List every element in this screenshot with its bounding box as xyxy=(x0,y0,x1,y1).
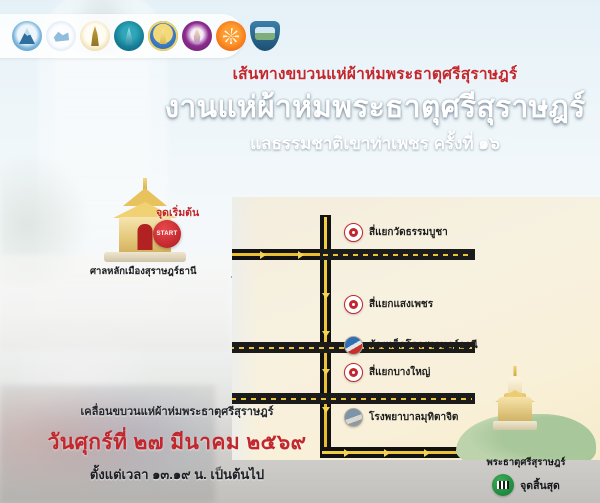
start-point-label: จุดเริ่มต้น xyxy=(156,204,199,221)
waypoint-row: ห้างแม็คโครสุราษฎร์ธานี xyxy=(344,336,478,355)
route-arrow-right xyxy=(298,251,304,259)
destination-end-row: จุดสิ้นสุด xyxy=(452,474,600,496)
hospital-icon xyxy=(344,408,363,427)
logo-tourism xyxy=(148,21,178,51)
header-tagline: แลธรรมชาติเขาท่าเพชร ครั้งที่ ๑๖ xyxy=(150,130,600,157)
poster-canvas: เส้นทางขบวนแห่ผ้าห่มพระธาตุศรีสุราษฎร์ ง… xyxy=(0,0,600,503)
footer-block: เคลื่อนขบวนแห่ผ้าห่มพระธาตุศรีสุราษฎร์ ว… xyxy=(24,402,330,485)
destination-end-label: จุดสิ้นสุด xyxy=(520,477,560,494)
waypoint-label: โรงพยาบาลมุทิตาจิต xyxy=(369,410,458,425)
finish-flag-icon xyxy=(492,474,514,496)
waypoint-row: สี่แยกวัดธรรมบูชา xyxy=(344,223,448,242)
waypoint-label: สี่แยกวัดธรรมบูชา xyxy=(369,225,448,240)
waypoint-row: สี่แยกแสงเพชร xyxy=(344,295,433,314)
destination-place-name: พระธาตุศรีสุราษฎร์ xyxy=(452,455,600,470)
waypoint-label: สี่แยกบางใหญ่ xyxy=(369,365,430,380)
cross-street-top xyxy=(320,249,475,260)
header-subtitle: เส้นทางขบวนแห่ผ้าห่มพระธาตุศรีสุราษฎร์ xyxy=(150,66,600,85)
route-arrow-down xyxy=(322,293,330,299)
waypoint-row: โรงพยาบาลมุทิตาจิต xyxy=(344,408,458,427)
waypoint-label: ห้างแม็คโครสุราษฎร์ธานี xyxy=(369,338,478,353)
logo-municipality xyxy=(114,21,144,51)
route-arrow-right xyxy=(344,449,350,457)
route-arrow-right xyxy=(260,251,266,259)
start-badge: START xyxy=(153,220,181,248)
map-pin-icon xyxy=(344,295,363,314)
store-icon xyxy=(344,336,363,355)
footer-line-1: เคลื่อนขบวนแห่ผ้าห่มพระธาตุศรีสุราษฎร์ xyxy=(24,402,330,420)
footer-event-time: ตั้งแต่เวลา ๑๓.๑๙ น. เป็นต้นไป xyxy=(24,464,330,485)
logo-sunburst xyxy=(216,21,246,51)
logo-royal-emblem xyxy=(80,21,110,51)
logo-strip xyxy=(0,14,244,58)
route-arrow-down xyxy=(322,369,330,375)
footer-event-date: วันศุกร์ที่ ๒๗ มีนาคม ๒๕๖๙ xyxy=(24,426,330,459)
waypoint-row: สี่แยกบางใหญ่ xyxy=(344,363,430,382)
logo-provincial-2 xyxy=(46,21,76,51)
phra-that-sri-surat-icon xyxy=(492,366,538,438)
logo-provincial-1 xyxy=(12,21,42,51)
route-arrow-right xyxy=(384,449,390,457)
start-place-name: ศาลหลักเมืองสุราษฎร์ธานี xyxy=(90,264,250,279)
route-arrow-right xyxy=(424,449,430,457)
waypoint-label: สี่แยกแสงเพชร xyxy=(369,297,433,312)
logo-cultural-council xyxy=(182,21,212,51)
route-segment-top-horizontal xyxy=(232,249,322,260)
page-title: งานแห่ผ้าห่มพระธาตุศรีสุราษฎร์ xyxy=(150,91,600,126)
route-arrow-down xyxy=(322,331,330,337)
destination-place-name-wrap: พระธาตุศรีสุราษฎร์ จุดสิ้นสุด xyxy=(452,455,600,496)
map-pin-icon xyxy=(344,223,363,242)
header-block: เส้นทางขบวนแห่ผ้าห่มพระธาตุศรีสุราษฎร์ ง… xyxy=(150,66,600,157)
map-pin-icon xyxy=(344,363,363,382)
